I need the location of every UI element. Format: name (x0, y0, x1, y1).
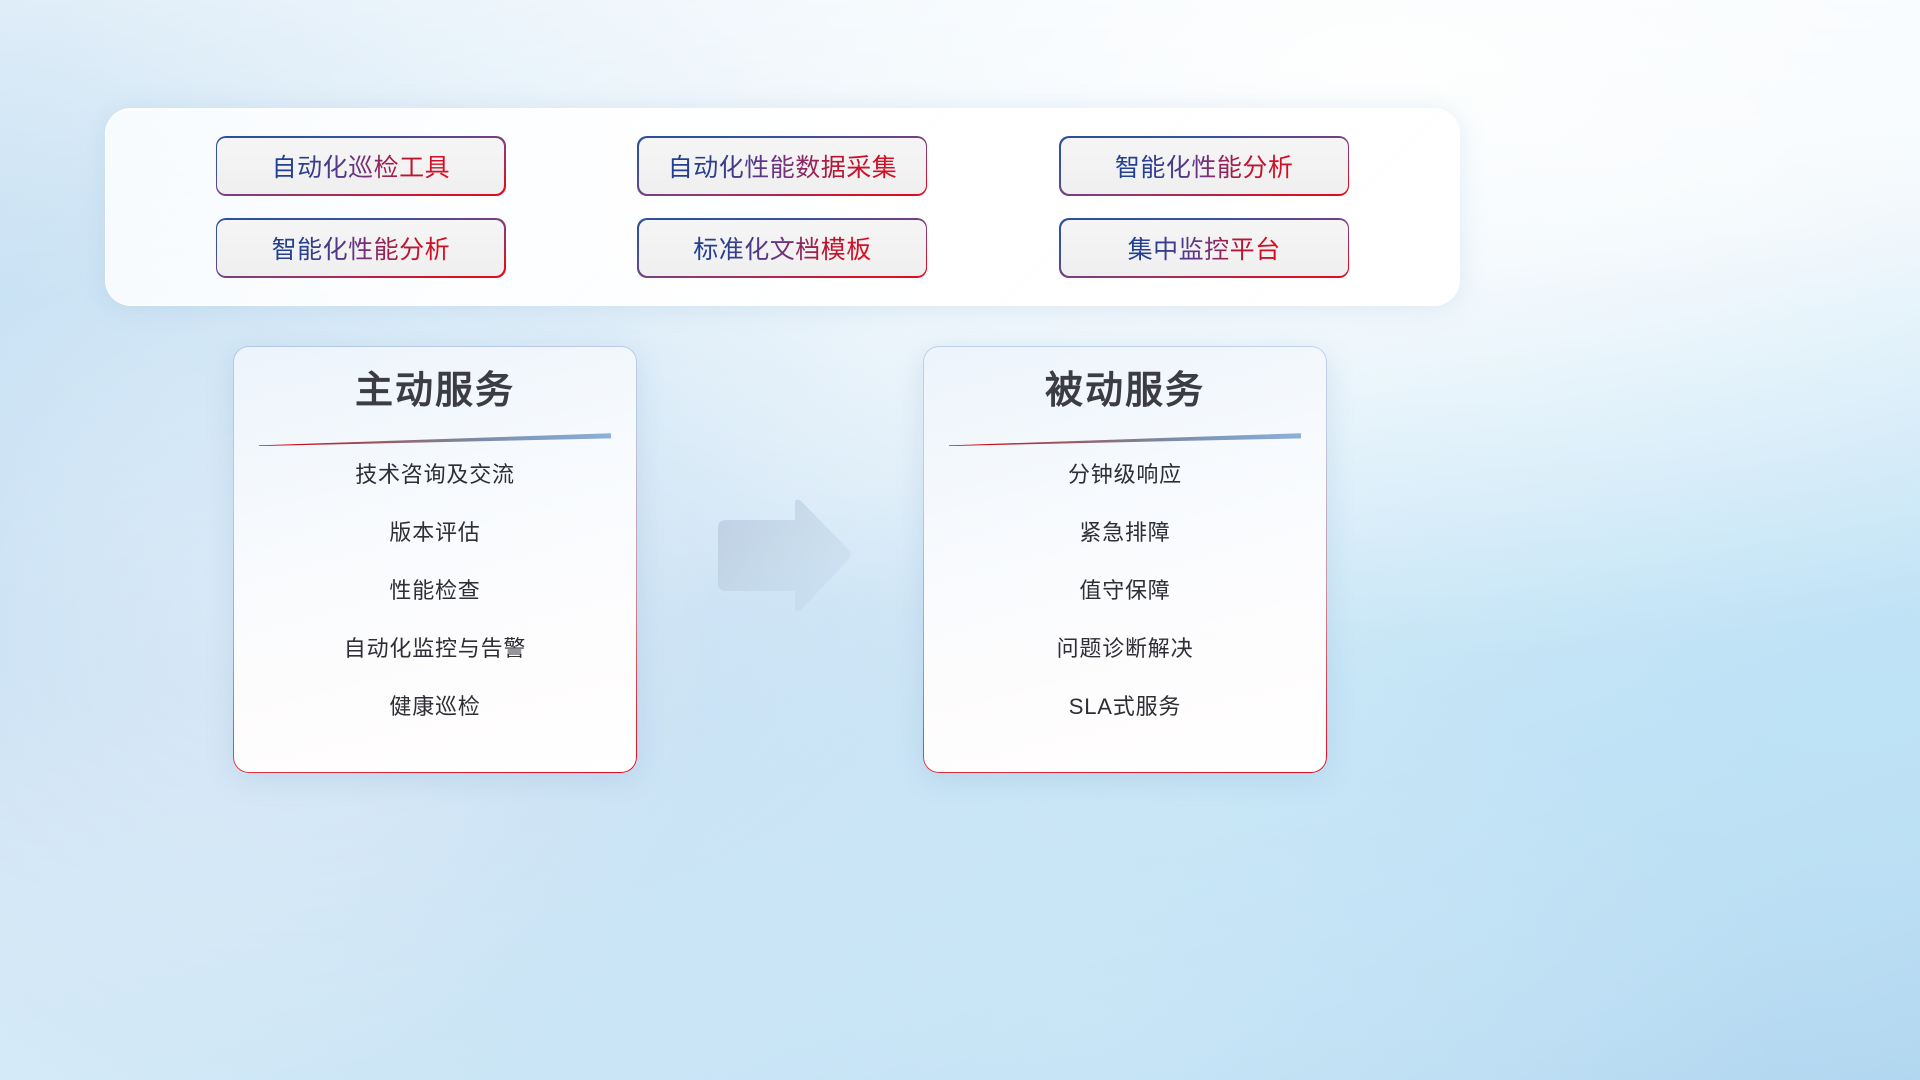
service-card-active-title: 主动服务 (355, 371, 515, 413)
list-item: SLA式服务 (1069, 696, 1181, 718)
capability-tag-1[interactable]: 自动化性能数据采集 (637, 136, 927, 196)
service-card-active-body: 主动服务 技术咨询及交流 版本评估 性能检查 (234, 347, 635, 771)
capability-tag-5[interactable]: 集中监控平台 (1059, 218, 1349, 278)
capability-tag-5-label: 集中监控平台 (1128, 230, 1281, 266)
capability-tag-4-label: 标准化文档模板 (693, 230, 872, 266)
capability-tag-0-label: 自动化巡检工具 (272, 148, 451, 184)
capability-tag-2[interactable]: 智能化性能分析 (1059, 136, 1349, 196)
list-item: 性能检查 (389, 580, 480, 602)
capability-tag-3-label: 智能化性能分析 (272, 230, 451, 266)
capability-tag-4[interactable]: 标准化文档模板 (637, 218, 927, 278)
capability-tag-3-inner: 智能化性能分析 (217, 220, 504, 277)
service-card-passive-body: 被动服务 分钟级响应 紧急排障 值守保障 (924, 347, 1325, 771)
right-arrow-icon (712, 496, 854, 618)
diagram-canvas: 自动化巡检工具 自动化性能数据采集 智能化性能分析 智能化性能分析 标准化文档模… (0, 0, 1920, 1080)
capability-tag-1-label: 自动化性能数据采集 (668, 148, 898, 184)
capability-tag-5-inner: 集中监控平台 (1061, 220, 1348, 277)
list-item: 紧急排障 (1079, 522, 1170, 544)
capability-tag-0[interactable]: 自动化巡检工具 (216, 136, 506, 196)
capability-tag-2-inner: 智能化性能分析 (1061, 138, 1348, 195)
capability-tag-3[interactable]: 智能化性能分析 (216, 218, 506, 278)
capability-tag-0-inner: 自动化巡检工具 (217, 138, 504, 195)
list-item: 版本评估 (389, 522, 480, 544)
capability-tags-panel: 自动化巡检工具 自动化性能数据采集 智能化性能分析 智能化性能分析 标准化文档模… (105, 108, 1460, 306)
capability-tag-1-inner: 自动化性能数据采集 (639, 138, 926, 195)
list-item: 值守保障 (1079, 580, 1170, 602)
service-card-passive-title: 被动服务 (1045, 371, 1205, 413)
title-underline-accent (949, 433, 1301, 446)
service-card-passive[interactable]: 被动服务 分钟级响应 紧急排障 值守保障 (923, 346, 1327, 773)
list-item: 自动化监控与告警 (344, 638, 526, 660)
list-item: 技术咨询及交流 (355, 464, 515, 486)
service-card-active[interactable]: 主动服务 技术咨询及交流 版本评估 性能检查 (233, 346, 637, 773)
service-card-passive-list: 分钟级响应 紧急排障 值守保障 问题诊断解决 SLA式服务 (924, 464, 1325, 718)
list-item: 健康巡检 (389, 696, 480, 718)
title-underline-accent (259, 433, 611, 446)
list-item: 分钟级响应 (1068, 464, 1182, 486)
capability-tag-4-inner: 标准化文档模板 (639, 220, 926, 277)
service-card-active-list: 技术咨询及交流 版本评估 性能检查 自动化监控与告警 健康巡检 (234, 464, 635, 718)
capability-tag-2-label: 智能化性能分析 (1115, 148, 1294, 184)
list-item: 问题诊断解决 (1057, 638, 1194, 660)
